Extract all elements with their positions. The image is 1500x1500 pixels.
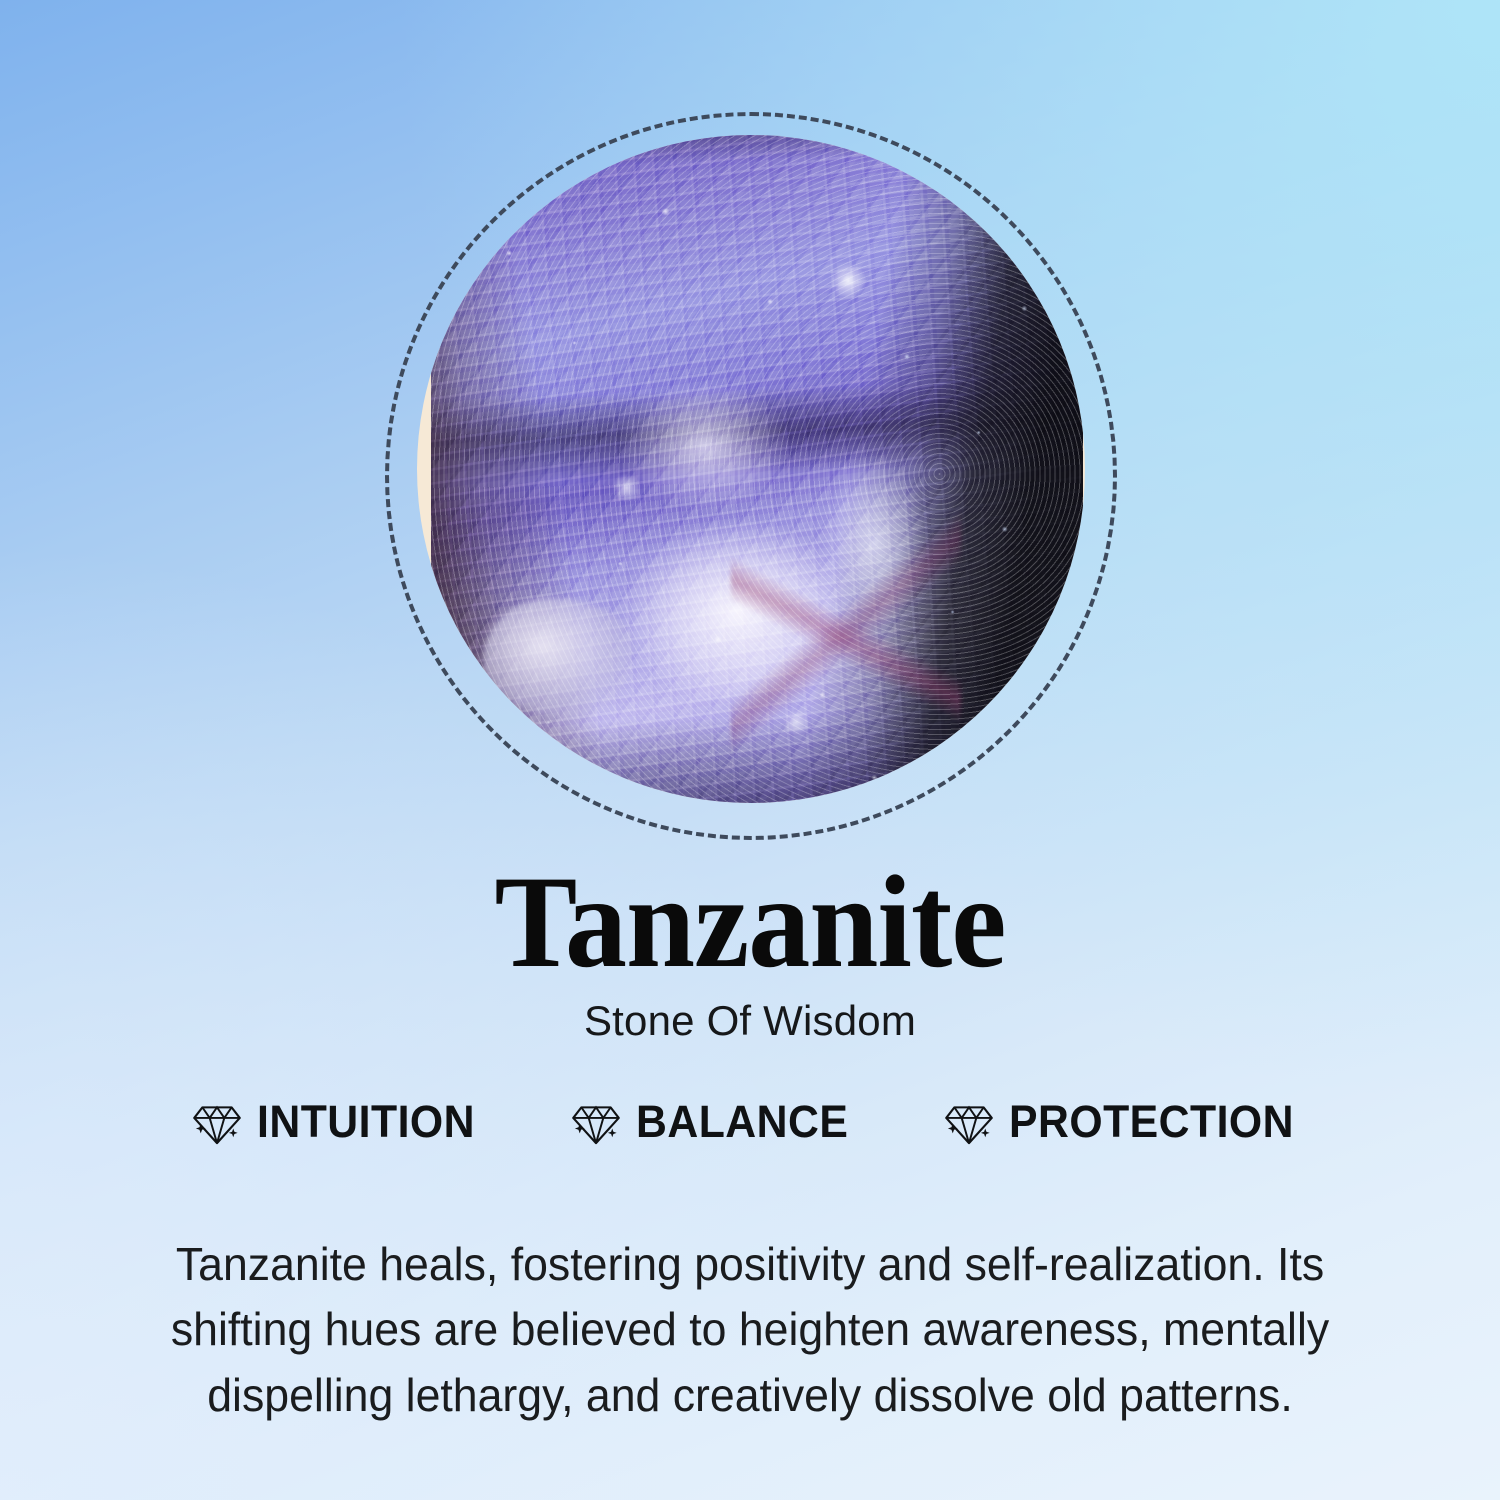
gem-photo-container	[417, 135, 1085, 803]
crystal-vein-detail	[731, 502, 961, 762]
attribute-item-intuition: INTUITION	[191, 1096, 486, 1148]
tanzanite-crystal-photo	[431, 135, 1083, 803]
diamond-icon	[570, 1096, 622, 1148]
gem-image-frame	[385, 112, 1117, 840]
description-text: Tanzanite heals, fostering positivity an…	[116, 1232, 1385, 1428]
attribute-label: INTUITION	[257, 1096, 475, 1148]
diamond-icon	[191, 1096, 243, 1148]
diamond-icon	[943, 1096, 995, 1148]
attribute-label: BALANCE	[636, 1096, 848, 1148]
page-subtitle: Stone Of Wisdom	[0, 998, 1500, 1044]
attribute-item-balance: BALANCE	[570, 1096, 860, 1148]
attribute-label: PROTECTION	[1009, 1096, 1294, 1148]
gemstone-info-card: Tanzanite Stone Of Wisdom INTUITION	[0, 0, 1500, 1500]
attribute-item-protection: PROTECTION	[943, 1096, 1309, 1148]
crystal-inclusion-highlight	[483, 598, 633, 718]
page-title: Tanzanite	[45, 856, 1455, 988]
attributes-row: INTUITION BALANCE	[0, 1096, 1500, 1148]
